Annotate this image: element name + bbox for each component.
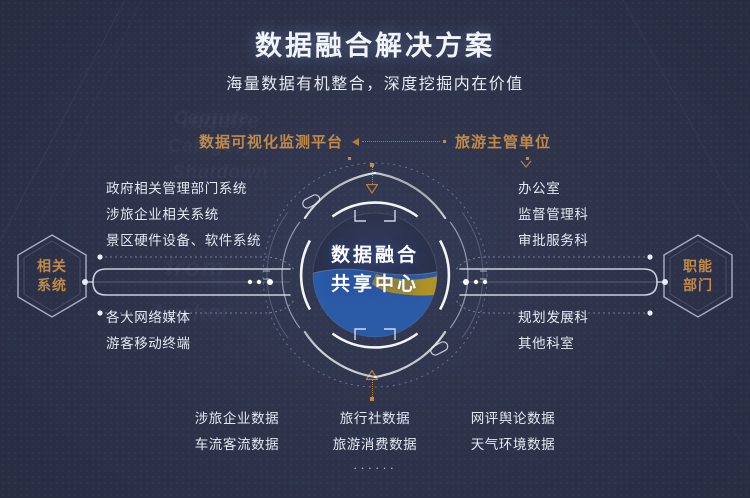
bottom-item-3[interactable]: 车流客流数据: [185, 432, 289, 458]
infographic-canvas: require Capture Category Shutdown from A…: [0, 0, 750, 498]
right-top-label-column: 办公室 监督管理科 审批服务科: [518, 176, 589, 254]
left-item-3[interactable]: 各大网络媒体: [106, 305, 191, 331]
right-item-3[interactable]: 规划发展科: [518, 305, 589, 331]
left-item-4[interactable]: 游客移动终端: [106, 331, 191, 357]
left-item-2[interactable]: 景区硬件设备、软件系统: [106, 228, 261, 254]
left-top-label-column: 政府相关管理部门系统 涉旅企业相关系统 景区硬件设备、软件系统: [106, 176, 261, 254]
core-sphere: [298, 213, 463, 358]
bottom-row-2: 车流客流数据 旅游消费数据 天气环境数据: [185, 432, 565, 458]
bottom-item-2[interactable]: 网评舆论数据: [461, 406, 565, 432]
bottom-ellipsis: ······: [353, 460, 397, 475]
bottom-item-4[interactable]: 旅游消费数据: [323, 432, 427, 458]
bottom-item-1[interactable]: 旅行社数据: [323, 406, 427, 432]
right-item-0[interactable]: 办公室: [518, 176, 589, 202]
bottom-label-grid: 涉旅企业数据 旅行社数据 网评舆论数据 车流客流数据 旅游消费数据 天气环境数据…: [0, 406, 750, 475]
right-item-1[interactable]: 监督管理科: [518, 202, 589, 228]
left-item-1[interactable]: 涉旅企业相关系统: [106, 202, 261, 228]
data-fusion-core[interactable]: 数据融合 共享中心: [258, 158, 492, 392]
left-item-0[interactable]: 政府相关管理部门系统: [106, 176, 261, 202]
chevron-down-icon: [520, 160, 532, 169]
right-top-inbound-arrow: [520, 160, 532, 169]
right-item-4[interactable]: 其他科室: [518, 331, 589, 357]
core-rings: [258, 158, 492, 392]
bottom-item-5[interactable]: 天气环境数据: [461, 432, 565, 458]
bottom-row-1: 涉旅企业数据 旅行社数据 网评舆论数据: [185, 406, 565, 432]
left-bottom-label-column: 各大网络媒体 游客移动终端: [106, 305, 191, 357]
right-bottom-label-column: 规划发展科 其他科室: [518, 305, 589, 357]
right-item-2[interactable]: 审批服务科: [518, 228, 589, 254]
bottom-item-0[interactable]: 涉旅企业数据: [185, 406, 289, 432]
